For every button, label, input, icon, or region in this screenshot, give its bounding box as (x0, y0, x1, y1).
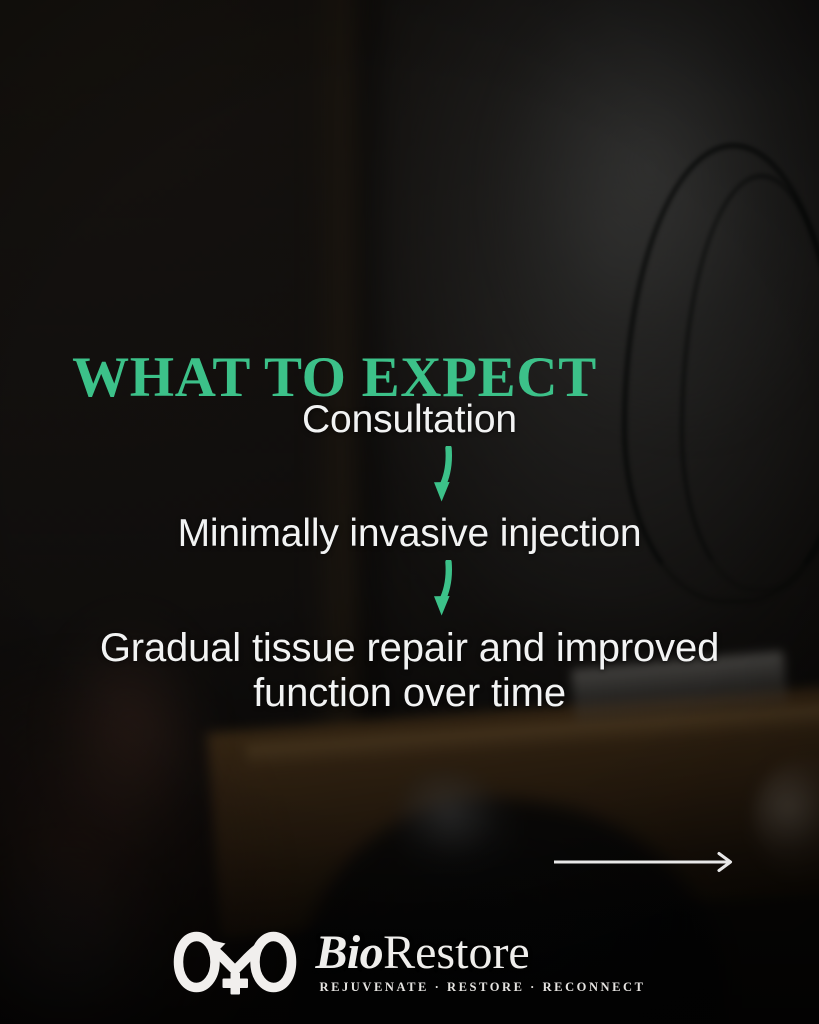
curved-down-arrow-icon (418, 446, 464, 508)
brand-tagline: REJUVENATE · RESTORE · RECONNECT (315, 980, 645, 995)
social-slide: WHAT TO EXPECT Consultation Minimally in… (0, 0, 819, 1024)
list-item: Consultation (0, 398, 819, 442)
wordmark-bio: Bio (315, 926, 383, 979)
brand-logo: BioRestore REJUVENATE · RESTORE · RECONN… (0, 929, 819, 995)
slide-content: WHAT TO EXPECT Consultation Minimally in… (0, 0, 819, 1024)
process-step-list: Consultation Minimally invasive injectio… (0, 398, 819, 717)
wordmark-restore: Restore (383, 926, 530, 979)
curved-down-arrow-icon (418, 560, 464, 622)
arrow-right-icon[interactable] (553, 848, 737, 876)
logo-text-lockup: BioRestore REJUVENATE · RESTORE · RECONN… (315, 929, 645, 995)
list-item: Minimally invasive injection (0, 512, 819, 556)
brand-wordmark: BioRestore (315, 929, 645, 977)
list-item: Gradual tissue repair and improved funct… (80, 626, 740, 716)
infinity-gender-symbols-icon (173, 929, 297, 995)
